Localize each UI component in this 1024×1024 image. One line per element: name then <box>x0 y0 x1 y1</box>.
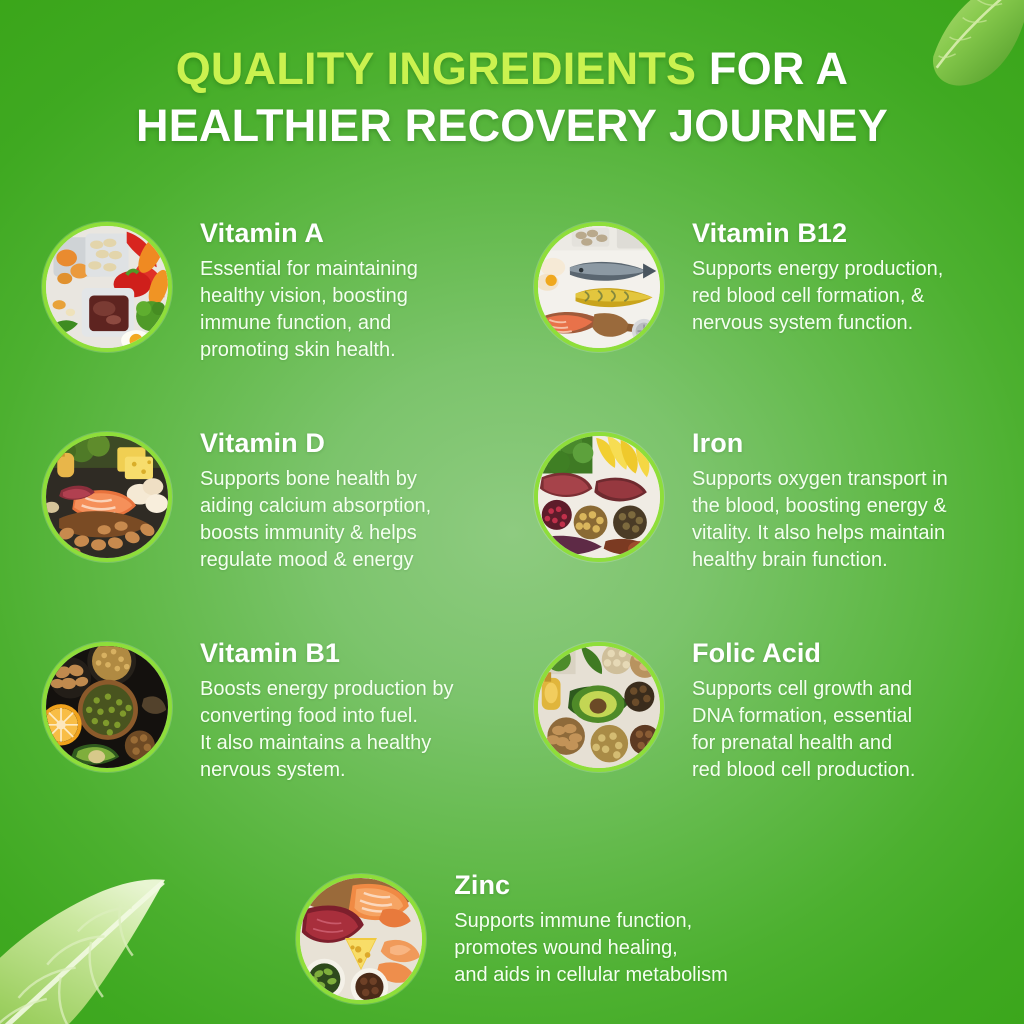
nutrient-title: Vitamin B1 <box>200 636 454 670</box>
nutrient-title: Vitamin A <box>200 216 418 250</box>
nutrient-description: Supports cell growth and DNA formation, … <box>692 676 915 784</box>
nutrient-text-zinc: Zinc Supports immune function, promotes … <box>426 852 727 989</box>
nutrient-thumbnail-vitamin-b1 <box>42 642 172 772</box>
nutrient-description: Boosts energy production by converting f… <box>200 676 454 784</box>
nutrient-title: Folic Acid <box>692 636 915 670</box>
nutrient-description: Essential for maintaining healthy vision… <box>200 256 418 364</box>
nutrient-thumbnail-folic-acid <box>534 642 664 772</box>
nutrient-item-vitamin-a: Vitamin A Essential for maintaining heal… <box>0 200 512 364</box>
nutrient-description: Supports immune function, promotes wound… <box>454 908 727 989</box>
nutrient-text-vitamin-b12: Vitamin B12 Supports energy production, … <box>664 200 943 337</box>
nutrient-thumbnail-vitamin-d <box>42 432 172 562</box>
nutrient-item-zinc: Zinc Supports immune function, promotes … <box>296 852 727 1004</box>
nutrient-description: Supports bone health by aiding calcium a… <box>200 466 431 574</box>
nutrient-title: Iron <box>692 426 948 460</box>
nutrient-text-folic-acid: Folic Acid Supports cell growth and DNA … <box>664 620 915 784</box>
nutrient-grid: Vitamin A Essential for maintaining heal… <box>0 200 1024 1004</box>
nutrient-thumbnail-vitamin-a <box>42 222 172 352</box>
nutrient-thumbnail-zinc <box>296 874 426 1004</box>
nutrient-text-vitamin-d: Vitamin D Supports bone health by aiding… <box>172 410 431 574</box>
nutrient-item-iron: Iron Supports oxygen transport in the bl… <box>512 410 1024 574</box>
nutrient-text-vitamin-b1: Vitamin B1 Boosts energy production by c… <box>172 620 454 784</box>
nutrient-item-vitamin-b1: Vitamin B1 Boosts energy production by c… <box>0 620 512 784</box>
nutrient-item-vitamin-b12: Vitamin B12 Supports energy production, … <box>512 200 1024 352</box>
title-line-1: QUALITY INGREDIENTS FOR A <box>54 40 970 97</box>
page-title: QUALITY INGREDIENTS FOR A HEALTHIER RECO… <box>0 40 1024 154</box>
nutrient-row-2: Vitamin D Supports bone health by aiding… <box>0 410 1024 620</box>
nutrient-thumbnail-vitamin-b12 <box>534 222 664 352</box>
title-highlight: QUALITY INGREDIENTS <box>176 43 697 94</box>
nutrient-row-3: Vitamin B1 Boosts energy production by c… <box>0 620 1024 830</box>
nutrient-row-1: Vitamin A Essential for maintaining heal… <box>0 200 1024 410</box>
nutrient-title: Zinc <box>454 868 727 902</box>
nutrient-text-iron: Iron Supports oxygen transport in the bl… <box>664 410 948 574</box>
title-rest: FOR A <box>696 43 848 94</box>
infographic-poster: QUALITY INGREDIENTS FOR A HEALTHIER RECO… <box>0 0 1024 1024</box>
nutrient-description: Supports oxygen transport in the blood, … <box>692 466 948 574</box>
nutrient-thumbnail-iron <box>534 432 664 562</box>
nutrient-description: Supports energy production, red blood ce… <box>692 256 943 337</box>
nutrient-title: Vitamin B12 <box>692 216 943 250</box>
title-line-2: HEALTHIER RECOVERY JOURNEY <box>54 97 970 154</box>
nutrient-item-vitamin-d: Vitamin D Supports bone health by aiding… <box>0 410 512 574</box>
nutrient-item-folic-acid: Folic Acid Supports cell growth and DNA … <box>512 620 1024 784</box>
nutrient-row-4: Zinc Supports immune function, promotes … <box>0 852 1024 1004</box>
nutrient-text-vitamin-a: Vitamin A Essential for maintaining heal… <box>172 200 418 364</box>
nutrient-title: Vitamin D <box>200 426 431 460</box>
